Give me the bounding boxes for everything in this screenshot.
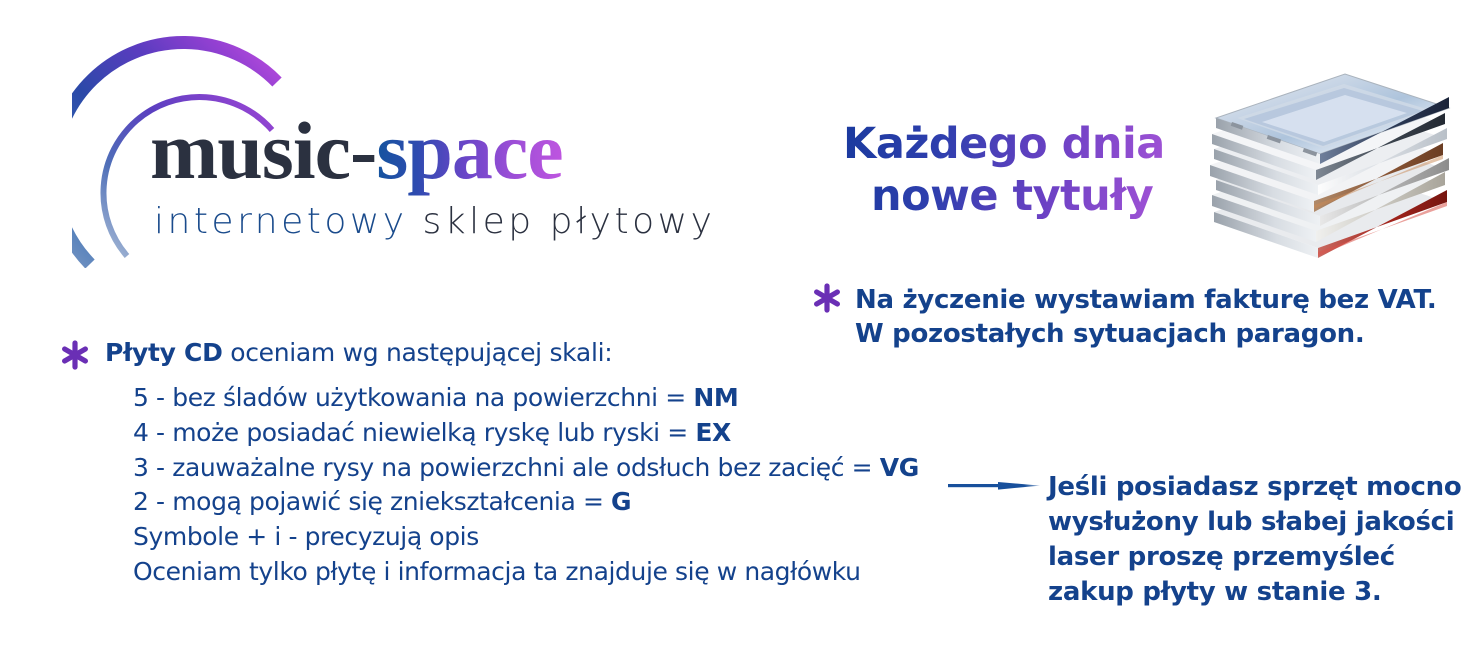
logo-tagline: internetowy sklep płytowy bbox=[154, 204, 715, 240]
scale-item-text: 3 - zauważalne rysy na powierzchni ale o… bbox=[133, 453, 880, 482]
scale-item-text: 4 - może posiadać niewielką ryskę lub ry… bbox=[133, 418, 695, 447]
logo-wordmark: music-space bbox=[150, 110, 563, 192]
logo-tagline-dark: sklep płytowy bbox=[408, 201, 716, 242]
grading-scale-heading: Płyty CD oceniam wg następującej skali: bbox=[105, 338, 940, 367]
list-item: 3 - zauważalne rysy na powierzchni ale o… bbox=[133, 451, 940, 486]
scale-item-text: Oceniam tylko płytę i informacja ta znaj… bbox=[133, 557, 861, 586]
scale-item-grade: VG bbox=[880, 453, 919, 482]
headline-line-2: nowe tytuły bbox=[843, 170, 1173, 222]
asterisk-icon bbox=[812, 283, 842, 313]
advice-note-line-1: Jeśli posiadasz sprzęt mocno bbox=[1048, 470, 1438, 505]
logo-wordmark-dark: music- bbox=[150, 105, 376, 196]
scale-item-text: Symbole + i - precyzują opis bbox=[133, 522, 479, 551]
cd-jewel-case-stack-photo bbox=[1192, 62, 1460, 272]
scale-item-grade: EX bbox=[695, 418, 731, 447]
site-logo[interactable]: music-space internetowy sklep płytowy bbox=[72, 18, 772, 268]
grading-scale-block: Płyty CD oceniam wg następującej skali: … bbox=[60, 338, 940, 590]
arrow-right-icon bbox=[948, 478, 1040, 494]
advice-note-line-3: laser proszę przemyśleć bbox=[1048, 540, 1438, 575]
grading-scale-list: 5 - bez śladów użytkowania na powierzchn… bbox=[133, 381, 940, 590]
scale-item-text: 5 - bez śladów użytkowania na powierzchn… bbox=[133, 383, 693, 412]
headline-line-1: Każdego dnia bbox=[843, 118, 1173, 170]
invoice-note-line-1: Na życzenie wystawiam fakturę bez VAT. bbox=[855, 283, 1412, 317]
logo-tagline-blue: internetowy bbox=[154, 201, 408, 242]
grading-scale-heading-strong: Płyty CD bbox=[105, 338, 223, 367]
advice-note-line-4: zakup płyty w stanie 3. bbox=[1048, 575, 1438, 610]
headline: Każdego dnia nowe tytuły bbox=[843, 118, 1173, 223]
asterisk-icon bbox=[60, 340, 90, 370]
list-item: 5 - bez śladów użytkowania na powierzchn… bbox=[133, 381, 940, 416]
scale-item-grade: G bbox=[611, 487, 631, 516]
advice-note: Jeśli posiadasz sprzęt mocno wysłużony l… bbox=[1048, 470, 1438, 610]
list-item: Symbole + i - precyzują opis bbox=[133, 520, 940, 555]
list-item: Oceniam tylko płytę i informacja ta znaj… bbox=[133, 555, 940, 590]
scale-item-text: 2 - mogą pojawić się zniekształcenia = bbox=[133, 487, 611, 516]
scale-item-grade: NM bbox=[693, 383, 738, 412]
banner-root: music-space internetowy sklep płytowy Ka… bbox=[0, 0, 1481, 655]
advice-note-line-2: wysłużony lub słabej jakości bbox=[1048, 505, 1438, 540]
list-item: 2 - mogą pojawić się zniekształcenia = G bbox=[133, 485, 940, 520]
list-item: 4 - może posiadać niewielką ryskę lub ry… bbox=[133, 416, 940, 451]
logo-wordmark-gradient: space bbox=[376, 105, 562, 196]
grading-scale-heading-rest: oceniam wg następującej skali: bbox=[223, 338, 613, 367]
